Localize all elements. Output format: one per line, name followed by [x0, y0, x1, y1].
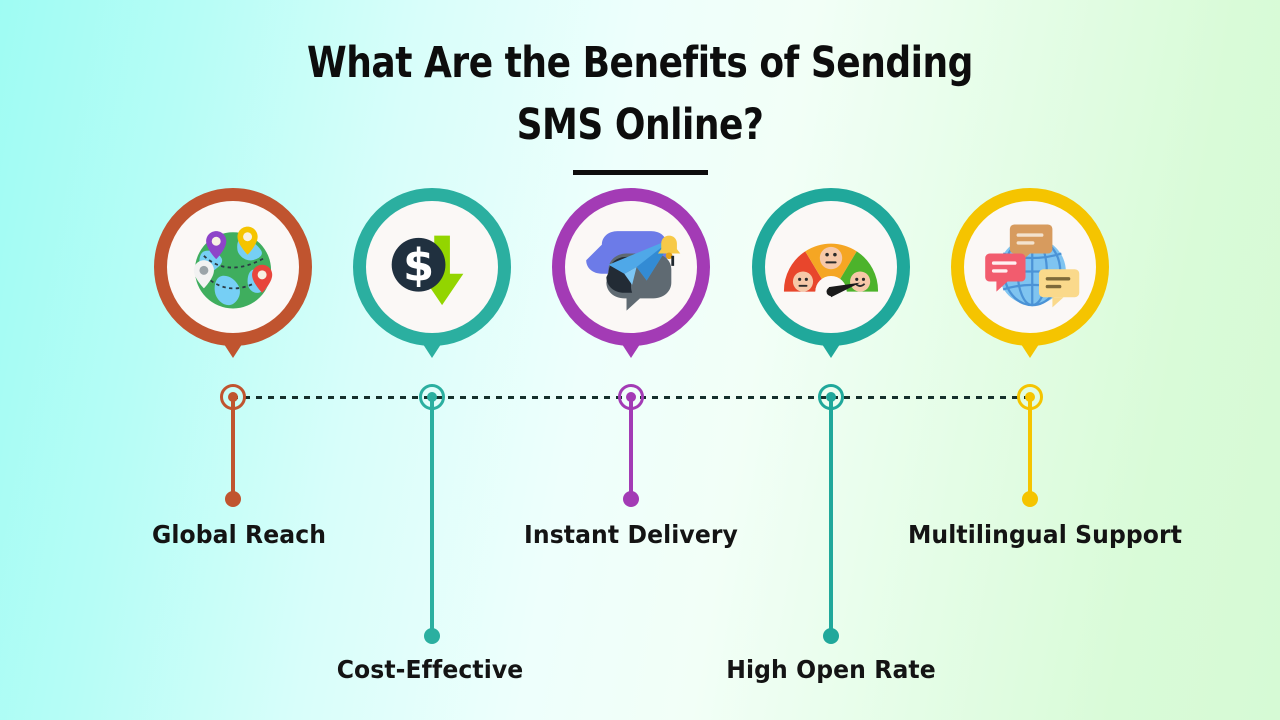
benefit-label-high-open-rate: High Open Rate	[726, 655, 936, 684]
pin-ring	[154, 188, 312, 346]
dollar-coin-down-arrow-icon: $	[376, 211, 488, 323]
icon-pin-row: $	[0, 0, 1280, 720]
icon-pin-global-reach[interactable]	[154, 188, 312, 366]
icon-pin-cost-effective[interactable]: $	[353, 188, 511, 366]
timeline-endcap-dot	[623, 491, 639, 507]
benefit-label-cost-effective: Cost-Effective	[337, 655, 524, 684]
timeline-stem	[629, 397, 633, 499]
satisfaction-gauge-icon	[775, 211, 887, 323]
timeline-marker-dot	[427, 392, 437, 402]
icon-pin-multilingual-support[interactable]	[951, 188, 1109, 366]
timeline-stem	[430, 397, 434, 637]
timeline-stem	[1028, 397, 1032, 499]
timeline-endcap-dot	[1022, 491, 1038, 507]
benefit-label-instant-delivery: Instant Delivery	[524, 520, 738, 549]
timeline-endcap-dot	[424, 628, 440, 644]
timeline-endcap-dot	[823, 628, 839, 644]
timeline-marker-dot	[228, 392, 238, 402]
benefit-label-multilingual-support: Multilingual Support	[908, 520, 1182, 549]
pin-ring	[951, 188, 1109, 346]
pin-ring	[552, 188, 710, 346]
pin-ring: $	[353, 188, 511, 346]
chat-bubbles-paper-plane-bell-icon	[575, 211, 687, 323]
timeline-endcap-dot	[225, 491, 241, 507]
globe-chat-bubbles-icon	[974, 211, 1086, 323]
timeline-marker-dot	[826, 392, 836, 402]
icon-pin-instant-delivery[interactable]	[552, 188, 710, 366]
timeline-stem	[231, 397, 235, 499]
icon-pin-high-open-rate[interactable]	[752, 188, 910, 366]
timeline-marker-dot	[626, 392, 636, 402]
pin-ring	[752, 188, 910, 346]
svg-text:$: $	[403, 238, 434, 291]
benefit-label-global-reach: Global Reach	[152, 520, 326, 549]
timeline-marker-dot	[1025, 392, 1035, 402]
globe-with-location-pins-icon	[177, 211, 289, 323]
timeline-stem	[829, 397, 833, 637]
